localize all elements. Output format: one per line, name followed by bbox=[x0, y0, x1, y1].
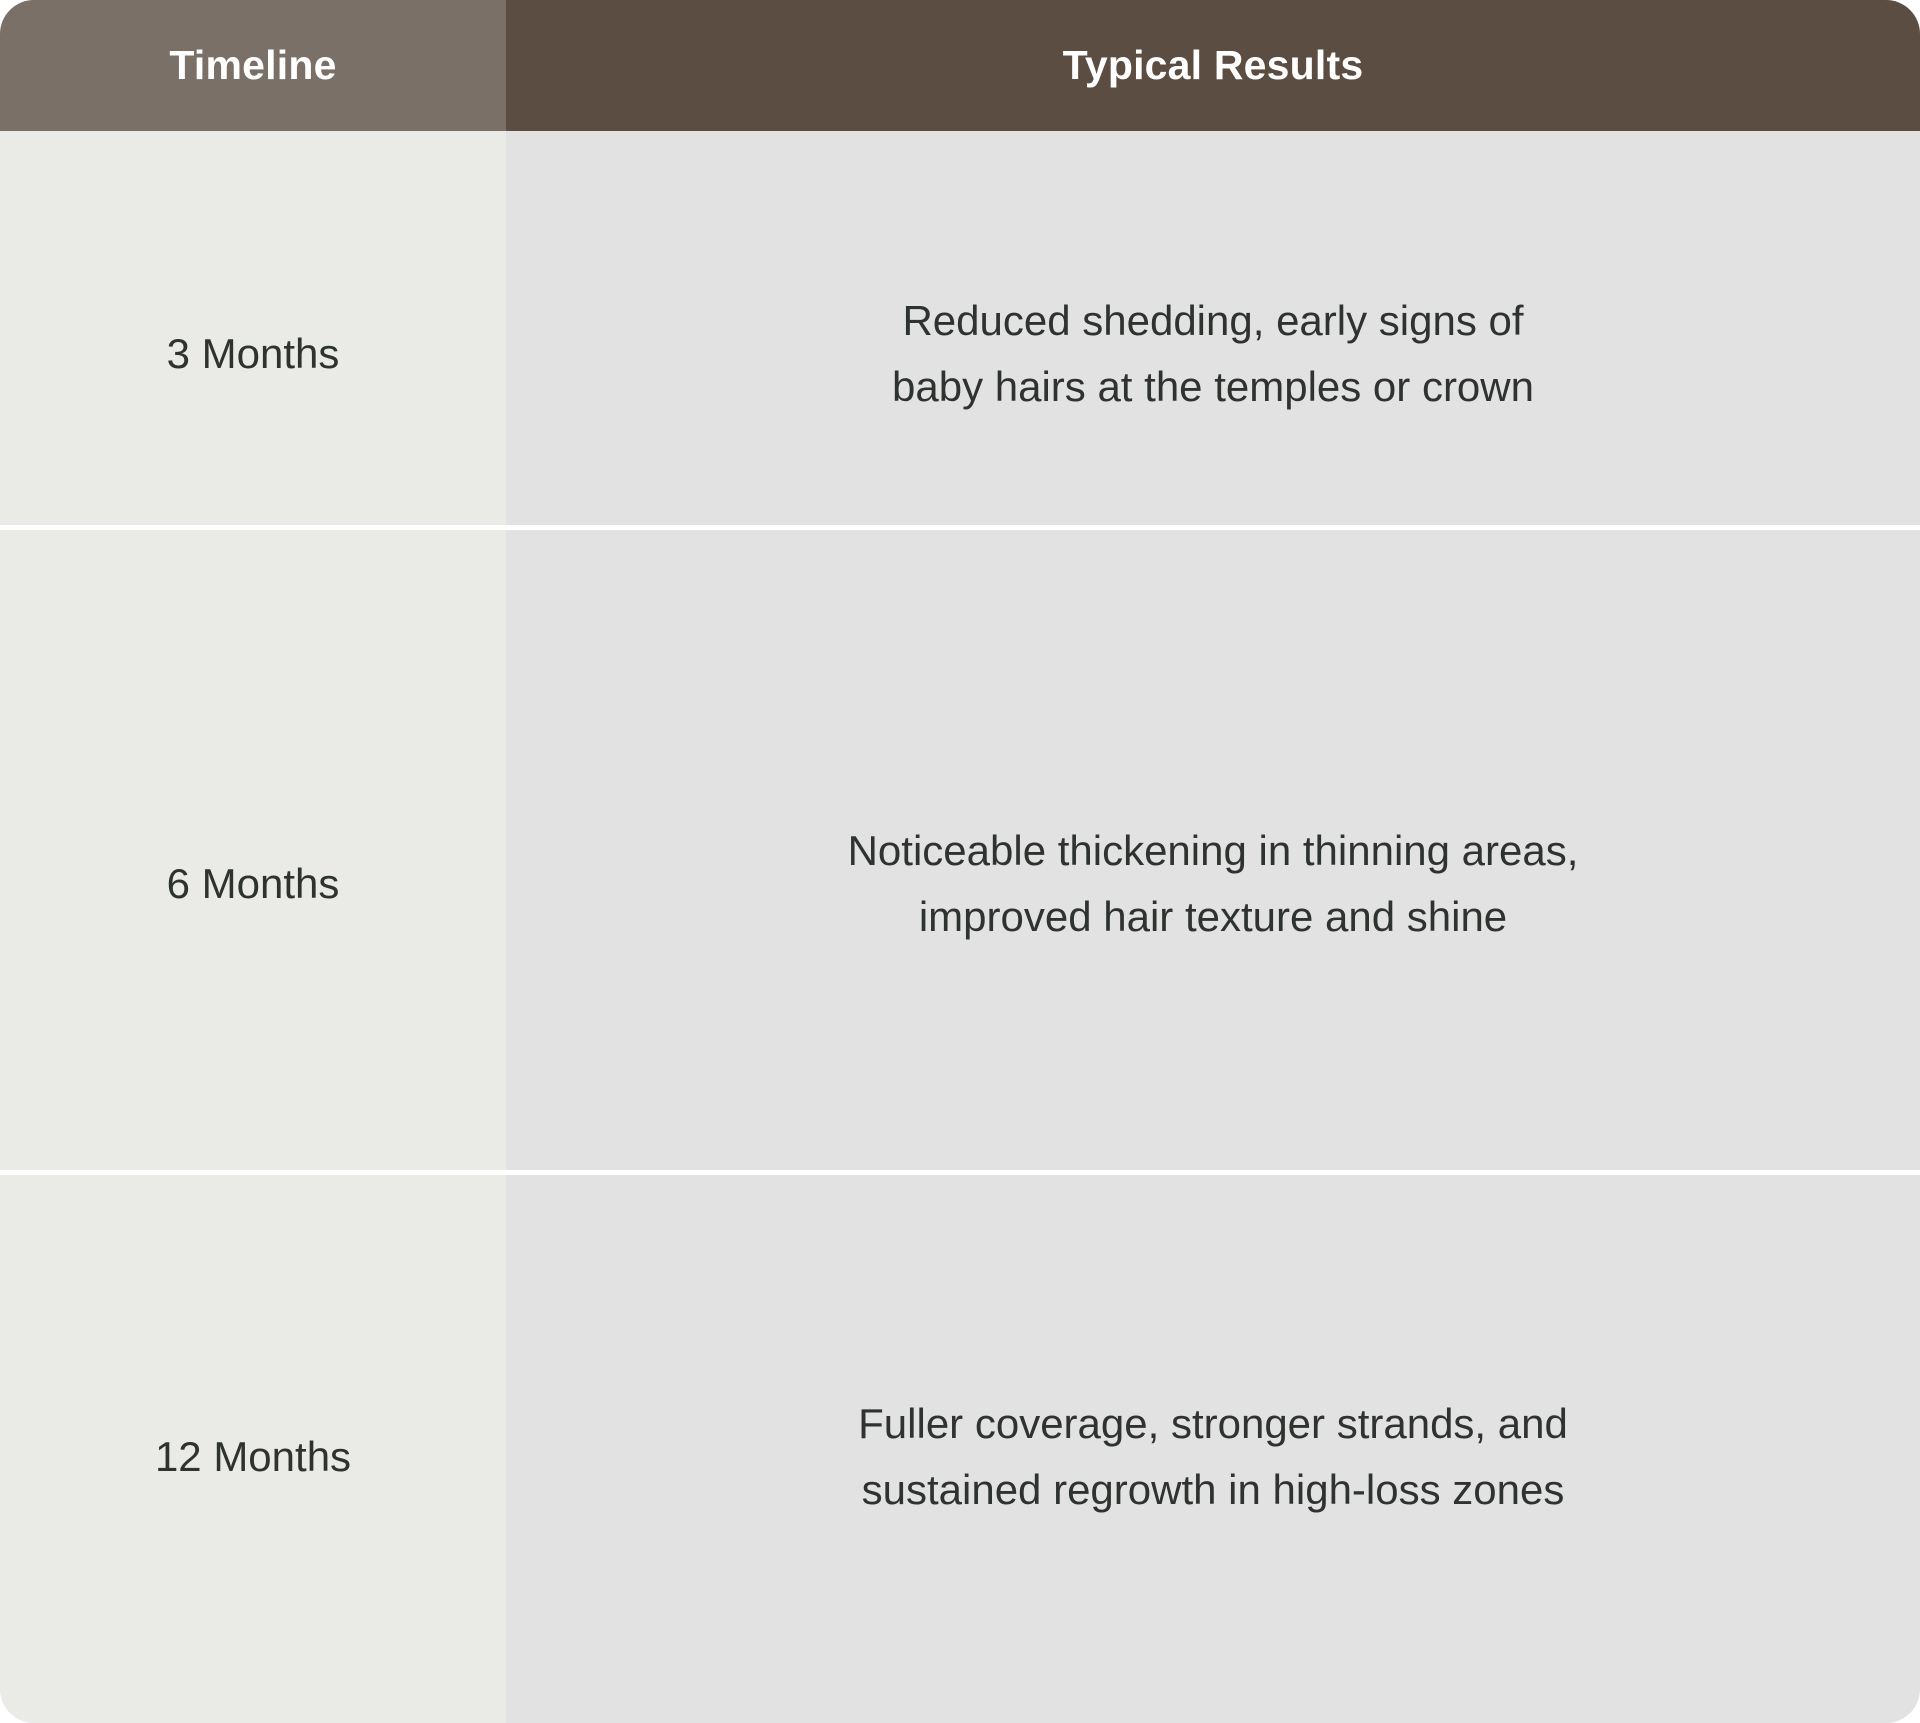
column-header-typical-results: Typical Results bbox=[506, 0, 1920, 131]
cell-typical-results: Fuller coverage, stronger strands, and s… bbox=[506, 1175, 1920, 1723]
cell-timeline: 3 Months bbox=[0, 131, 506, 525]
timeline-label: 6 Months bbox=[167, 851, 340, 917]
table-row: 3 Months Reduced shedding, early signs o… bbox=[0, 131, 1920, 525]
cell-timeline: 12 Months bbox=[0, 1175, 506, 1723]
table-body: 3 Months Reduced shedding, early signs o… bbox=[0, 131, 1920, 1723]
cell-typical-results: Reduced shedding, early signs of baby ha… bbox=[506, 131, 1920, 525]
timeline-label: 3 Months bbox=[167, 321, 340, 387]
table-row: 6 Months Noticeable thickening in thinni… bbox=[0, 530, 1920, 1170]
typical-results-text: Noticeable thickening in thinning areas,… bbox=[848, 818, 1579, 951]
table-row: 12 Months Fuller coverage, stronger stra… bbox=[0, 1175, 1920, 1723]
timeline-results-table-container: Timeline Typical Results 3 Months Reduce… bbox=[0, 0, 1920, 1723]
typical-results-text: Reduced shedding, early signs of baby ha… bbox=[892, 288, 1534, 421]
table-header-row: Timeline Typical Results bbox=[0, 0, 1920, 131]
cell-typical-results: Noticeable thickening in thinning areas,… bbox=[506, 530, 1920, 1170]
column-header-timeline: Timeline bbox=[0, 0, 506, 131]
timeline-results-table: Timeline Typical Results 3 Months Reduce… bbox=[0, 0, 1920, 1723]
timeline-label: 12 Months bbox=[155, 1424, 351, 1490]
typical-results-text: Fuller coverage, stronger strands, and s… bbox=[858, 1391, 1568, 1524]
cell-timeline: 6 Months bbox=[0, 530, 506, 1170]
